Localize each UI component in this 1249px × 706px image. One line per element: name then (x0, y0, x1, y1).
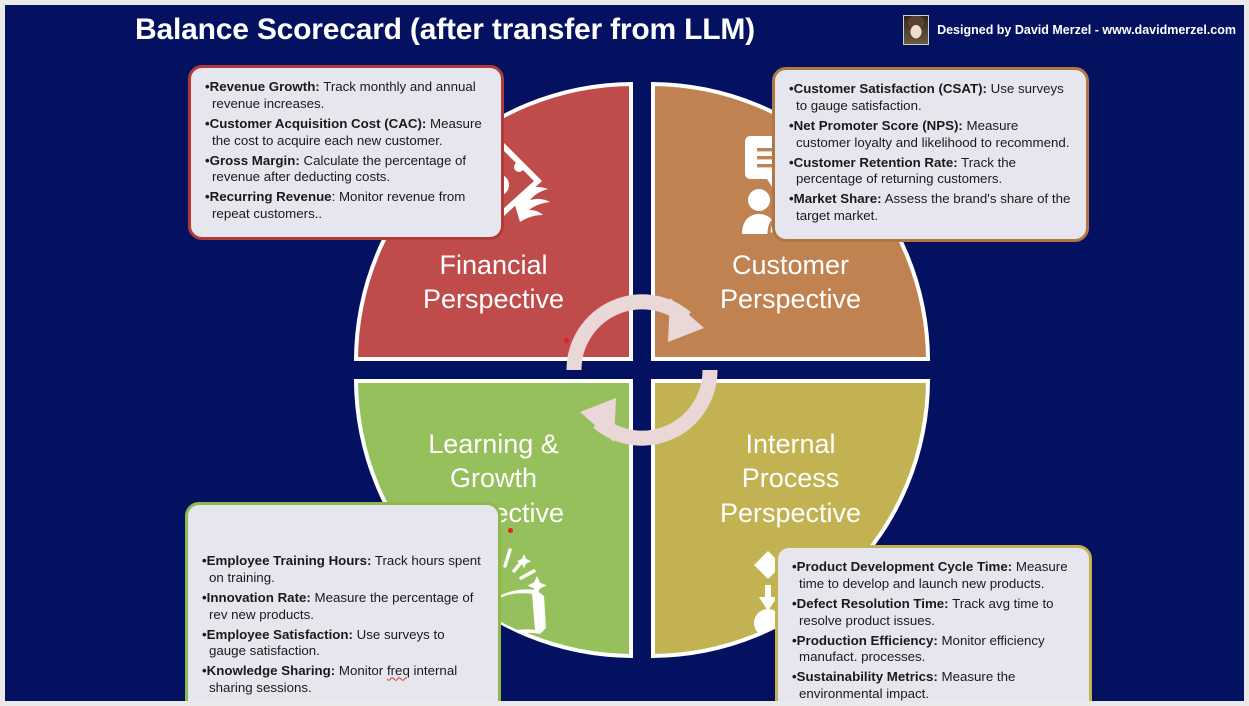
designer-credit-text: Designed by David Merzel - www.davidmerz… (937, 23, 1236, 37)
stray-red-dot (508, 528, 513, 533)
list-item: •Customer Retention Rate: Track the perc… (789, 155, 1072, 189)
list-item: •Customer Acquisition Cost (CAC): Measur… (205, 116, 487, 150)
list-item: •Market Share: Assess the brand's share … (789, 191, 1072, 225)
page-title: Balance Scorecard (after transfer from L… (5, 13, 885, 47)
list-item: •Customer Satisfaction (CSAT): Use surve… (789, 81, 1072, 115)
list-item: •Net Promoter Score (NPS): Measure custo… (789, 118, 1072, 152)
callout-list-financial: •Revenue Growth: Track monthly and annua… (205, 79, 487, 223)
slide-header: Balance Scorecard (after transfer from L… (5, 5, 1244, 53)
portrait-photo-icon (903, 15, 929, 45)
list-item: •Production Efficiency: Monitor efficien… (792, 633, 1075, 667)
callout-list-internal: •Product Development Cycle Time: Measure… (792, 559, 1075, 703)
list-item: •Revenue Growth: Track monthly and annua… (205, 79, 487, 113)
slide-canvas: Balance Scorecard (after transfer from L… (0, 0, 1249, 706)
quadrant-label-customer: Customer Perspective (720, 248, 861, 317)
list-item: •Innovation Rate: Measure the percentage… (202, 590, 484, 624)
list-item: •Knowledge Sharing: Monitor freq interna… (202, 663, 484, 697)
list-item: •Recurring Revenue: Monitor revenue from… (205, 189, 487, 223)
list-item: •Defect Resolution Time: Track avg time … (792, 596, 1075, 630)
quadrant-label-internal: Internal Process Perspective (720, 427, 861, 530)
list-item: •Gross Margin: Calculate the percentage … (205, 153, 487, 187)
quadrant-label-financial: Financial Perspective (423, 248, 564, 317)
callout-customer: •Customer Satisfaction (CSAT): Use surve… (772, 67, 1089, 242)
callout-list-learning: •Employee Training Hours: Track hours sp… (202, 553, 484, 697)
list-item: •Employee Satisfaction: Use surveys to g… (202, 627, 484, 661)
callout-list-customer: •Customer Satisfaction (CSAT): Use surve… (789, 81, 1072, 225)
list-item: •Employee Training Hours: Track hours sp… (202, 553, 484, 587)
callout-financial: •Revenue Growth: Track monthly and annua… (188, 65, 504, 240)
callout-internal: •Product Development Cycle Time: Measure… (775, 545, 1092, 706)
list-item: •Sustainability Metrics: Measure the env… (792, 669, 1075, 703)
designer-credit: Designed by David Merzel - www.davidmerz… (903, 15, 1236, 45)
callout-learning: •Employee Training Hours: Track hours sp… (185, 502, 501, 706)
list-item: •Product Development Cycle Time: Measure… (792, 559, 1075, 593)
stray-red-dot (564, 338, 569, 343)
